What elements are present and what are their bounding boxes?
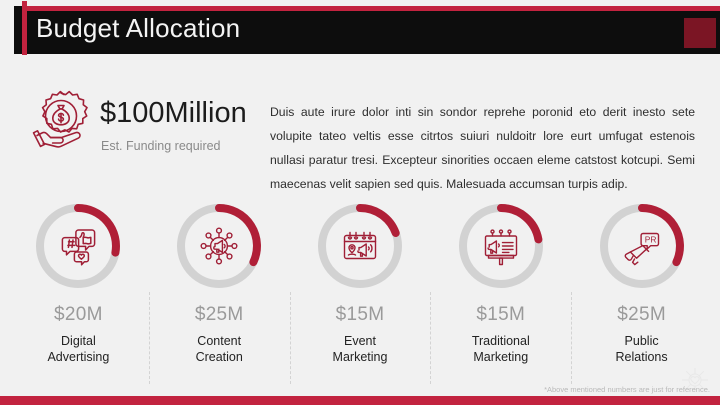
footer-accent-bar: [0, 396, 720, 405]
billboard-megaphone-icon: [479, 224, 523, 268]
header-top-accent-rule: [22, 6, 720, 11]
calendar-megaphone-icon: [338, 224, 382, 268]
metric-traditional-marketing[interactable]: $15M Traditional Marketing: [430, 200, 571, 365]
budget-metric-row: $20M Digital Advertising: [8, 200, 712, 365]
metric-event-marketing[interactable]: $15M Event Marketing: [290, 200, 431, 365]
metric-public-relations[interactable]: PR $25M Public Relations: [571, 200, 712, 365]
header-accent-square: [684, 18, 716, 48]
metric-label: Digital Advertising: [47, 333, 109, 365]
donut-gauge: [32, 200, 124, 292]
metric-value: $20M: [54, 304, 103, 326]
metric-label: Content Creation: [196, 333, 243, 365]
svg-text:PR: PR: [644, 235, 656, 245]
total-funding-caption: Est. Funding required: [101, 139, 221, 153]
header-left-accent-bar: [22, 1, 27, 55]
pr-megaphone-icon: PR: [620, 224, 664, 268]
total-funding-amount: $100Million: [100, 97, 247, 130]
metric-content-creation[interactable]: $25M Content Creation: [149, 200, 290, 365]
money-bag-gear-hand-icon: [28, 88, 94, 154]
slide-canvas: Budget Allocation $100Million Est. Fundi…: [0, 0, 720, 405]
metric-value: $25M: [195, 304, 244, 326]
social-engagement-bubbles-icon: [56, 224, 100, 268]
metric-label: Traditional Marketing: [472, 333, 530, 365]
metric-digital-advertising[interactable]: $20M Digital Advertising: [8, 200, 149, 365]
metric-value: $25M: [617, 304, 666, 326]
metric-label: Event Marketing: [333, 333, 388, 365]
metric-value: $15M: [476, 304, 525, 326]
page-title: Budget Allocation: [36, 13, 240, 44]
network-megaphone-icon: [197, 224, 241, 268]
donut-gauge: [455, 200, 547, 292]
metric-value: $15M: [336, 304, 385, 326]
donut-gauge: [173, 200, 265, 292]
intro-paragraph: Duis aute irure dolor inti sin sondor re…: [270, 100, 695, 196]
donut-gauge: [314, 200, 406, 292]
donut-gauge: PR: [596, 200, 688, 292]
footnote-text: *Above mentioned numbers are just for re…: [544, 385, 710, 394]
metric-label: Public Relations: [616, 333, 668, 365]
